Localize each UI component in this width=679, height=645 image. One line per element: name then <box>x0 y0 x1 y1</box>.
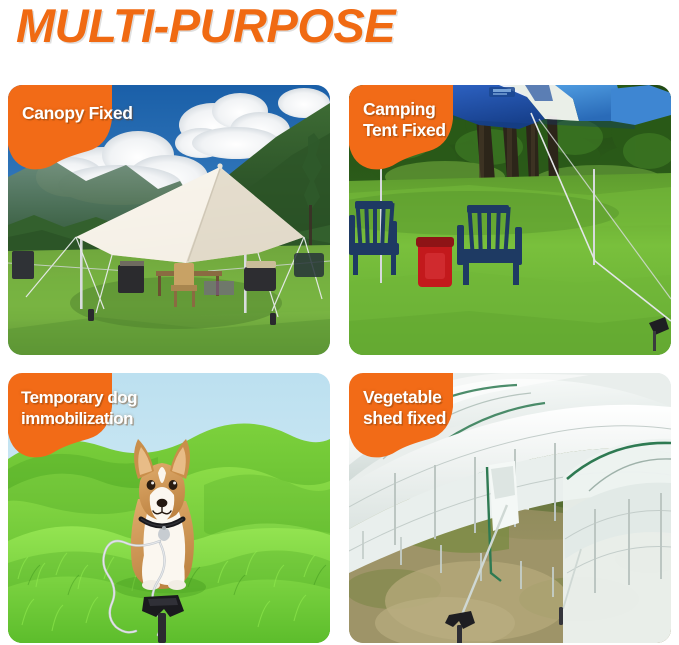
badge-label: Vegetable shed fixed <box>363 387 446 429</box>
feature-card-temporary-dog-immobilization[interactable]: Temporary dog immobilization <box>8 373 330 643</box>
feature-card-grid: Canopy Fixed <box>8 85 671 643</box>
photo-white-stretch-canopy-in-mountain-valley <box>8 85 330 355</box>
feature-card-camping-tent-fixed[interactable]: Camping Tent Fixed <box>349 85 671 355</box>
feature-card-vegetable-shed-fixed[interactable]: Vegetable shed fixed <box>349 373 671 643</box>
feature-card-canopy-fixed[interactable]: Canopy Fixed <box>8 85 330 355</box>
badge-label: Canopy Fixed <box>22 103 133 124</box>
badge-label: Camping Tent Fixed <box>363 99 446 141</box>
badge-label: Temporary dog immobilization <box>21 387 137 429</box>
page-title: MULTI-PURPOSE <box>16 0 395 54</box>
infographic-page: MULTI-PURPOSE <box>0 0 679 645</box>
